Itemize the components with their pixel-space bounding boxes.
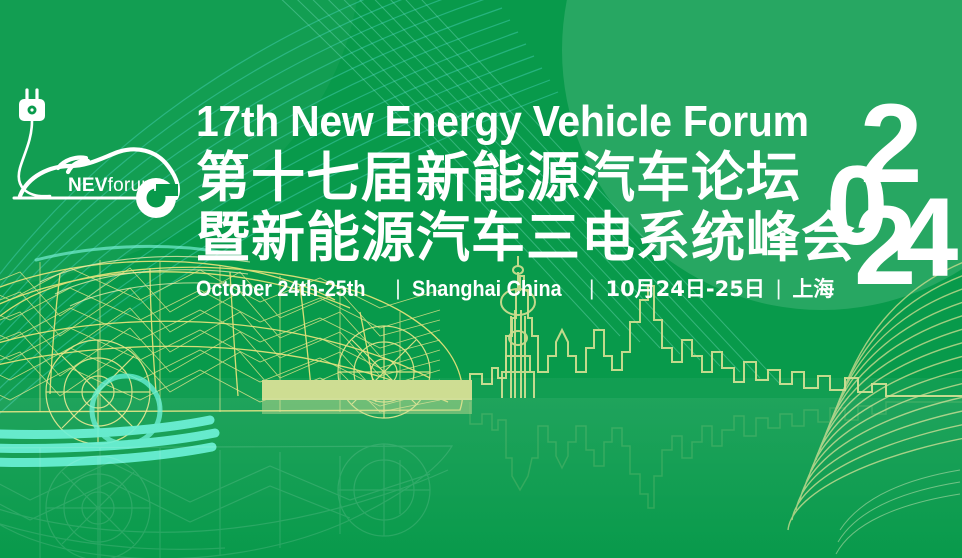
year-badge-2024: 2 0 2 4	[840, 112, 958, 308]
logo-word-nev: NEV	[68, 175, 108, 196]
plug-body-icon	[19, 99, 45, 121]
date-separator-3: |	[765, 276, 792, 302]
headline-block: 17th New Energy Vehicle Forum 第十七届新能源汽车论…	[196, 98, 844, 302]
logo-word-forum: forum	[108, 175, 158, 196]
chinese-city: 上海	[792, 276, 834, 302]
english-date: October 24th-25th	[196, 276, 365, 302]
charging-plug-icon	[27, 90, 37, 99]
logo-artwork	[6, 72, 196, 222]
chinese-title-line2: 暨新能源汽车三电系统峰会	[196, 208, 844, 268]
date-separator-1: |	[384, 276, 411, 302]
english-city: Shanghai China	[412, 276, 562, 302]
date-location-line: October 24th-25th | Shanghai China | 10月…	[196, 276, 844, 302]
logo-wordmark: NEVforum	[68, 175, 157, 197]
year-digit-4: 4	[896, 190, 958, 286]
english-title: 17th New Energy Vehicle Forum	[196, 98, 799, 146]
bottom-sheen	[0, 378, 962, 558]
event-poster: NEVforum 17th New Energy Vehicle Forum 第…	[0, 0, 962, 558]
date-separator-2: |	[578, 276, 605, 302]
chinese-date: 10月24日-25日	[605, 276, 764, 302]
nev-forum-logo[interactable]: NEVforum	[6, 72, 196, 222]
chinese-title-line1: 第十七届新能源汽车论坛	[196, 148, 844, 208]
